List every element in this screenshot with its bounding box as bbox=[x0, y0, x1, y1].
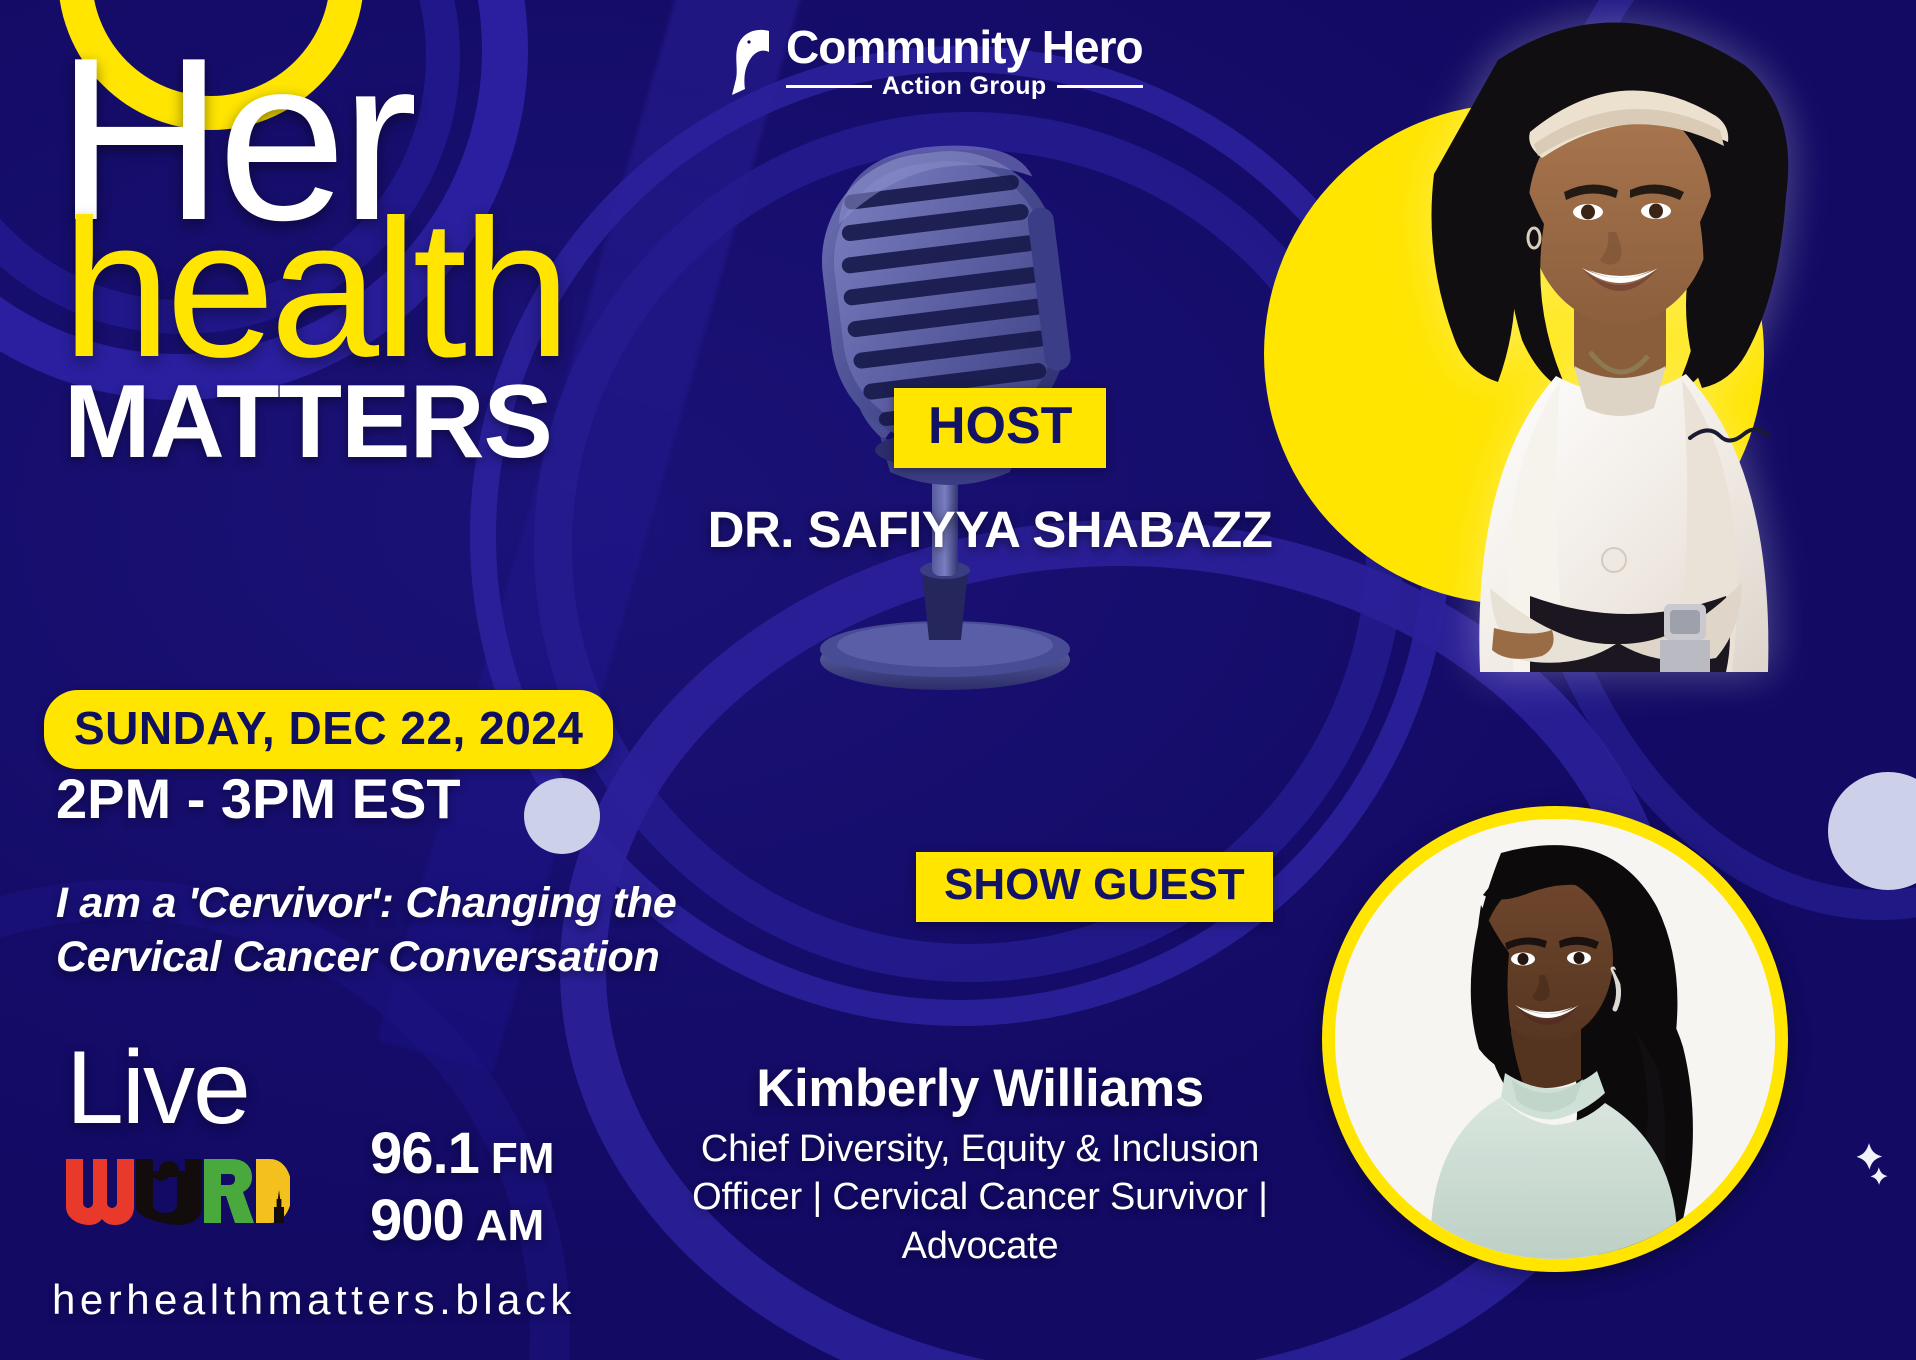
title-health: health bbox=[62, 205, 676, 374]
frequency-am-row: 900 AM bbox=[370, 1187, 554, 1254]
frequency-fm-row: 96.1 FM bbox=[370, 1120, 554, 1187]
brand-text-group: Community Hero Action Group bbox=[786, 24, 1143, 101]
brand-rule-right bbox=[1057, 85, 1143, 88]
guest-title: Chief Diversity, Equity & Inclusion Offi… bbox=[660, 1125, 1300, 1270]
four-point-star-icon bbox=[1846, 1142, 1892, 1188]
left-column: Her health MATTERS SUNDAY, DEC 22, 2024 … bbox=[0, 0, 700, 1360]
flyer-canvas: Her health MATTERS SUNDAY, DEC 22, 2024 … bbox=[0, 0, 1916, 1360]
guest-name: Kimberly Williams bbox=[660, 1058, 1300, 1119]
fm-number: 96.1 bbox=[370, 1120, 479, 1187]
guest-portrait-wrapper bbox=[1322, 806, 1788, 1272]
date-badge: SUNDAY, DEC 22, 2024 bbox=[44, 690, 613, 769]
cape-hero-icon bbox=[728, 25, 780, 99]
guest-badge: SHOW GUEST bbox=[916, 852, 1273, 922]
time-text: 2PM - 3PM EST bbox=[56, 766, 461, 831]
episode-title: I am a 'Cervivor': Changing the Cervical… bbox=[56, 876, 696, 984]
host-name: DR. SAFIYYA SHABAZZ bbox=[700, 500, 1280, 559]
guest-info-block: Kimberly Williams Chief Diversity, Equit… bbox=[660, 1058, 1300, 1270]
title-matters: MATTERS bbox=[64, 370, 676, 474]
show-title-block: Her health MATTERS bbox=[56, 50, 676, 474]
brand-tagline-row: Action Group bbox=[786, 72, 1143, 101]
guest-portrait bbox=[1335, 819, 1775, 1259]
host-portrait-wrapper bbox=[1242, 0, 1916, 696]
host-badge: HOST bbox=[894, 388, 1106, 468]
live-label: Live bbox=[66, 1036, 249, 1140]
frequency-block: 96.1 FM 900 AM bbox=[370, 1120, 554, 1254]
brand-name: Community Hero bbox=[786, 21, 1143, 73]
brand-rule-left bbox=[786, 85, 872, 88]
circle-dot-icon-right bbox=[1828, 772, 1916, 890]
wurd-logo bbox=[64, 1155, 290, 1227]
brand-tagline: Action Group bbox=[882, 72, 1047, 101]
community-hero-logo: Community Hero Action Group bbox=[728, 16, 1228, 108]
fm-band: FM bbox=[491, 1134, 555, 1184]
am-number: 900 bbox=[370, 1187, 464, 1254]
host-portrait bbox=[1338, 0, 1898, 672]
am-band: AM bbox=[476, 1201, 544, 1251]
website-url[interactable]: herhealthmatters.black bbox=[52, 1276, 576, 1324]
